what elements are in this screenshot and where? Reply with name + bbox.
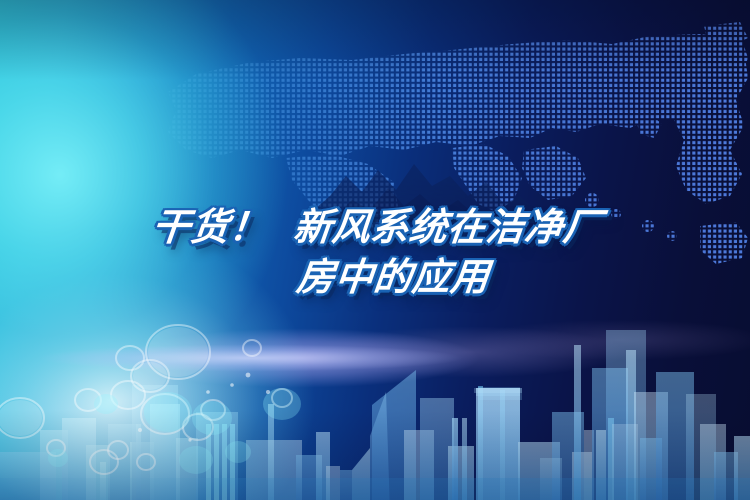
edge-vignette: [0, 0, 750, 500]
banner-image: 干货！新风系统在洁净厂 房中的应用: [0, 0, 750, 500]
